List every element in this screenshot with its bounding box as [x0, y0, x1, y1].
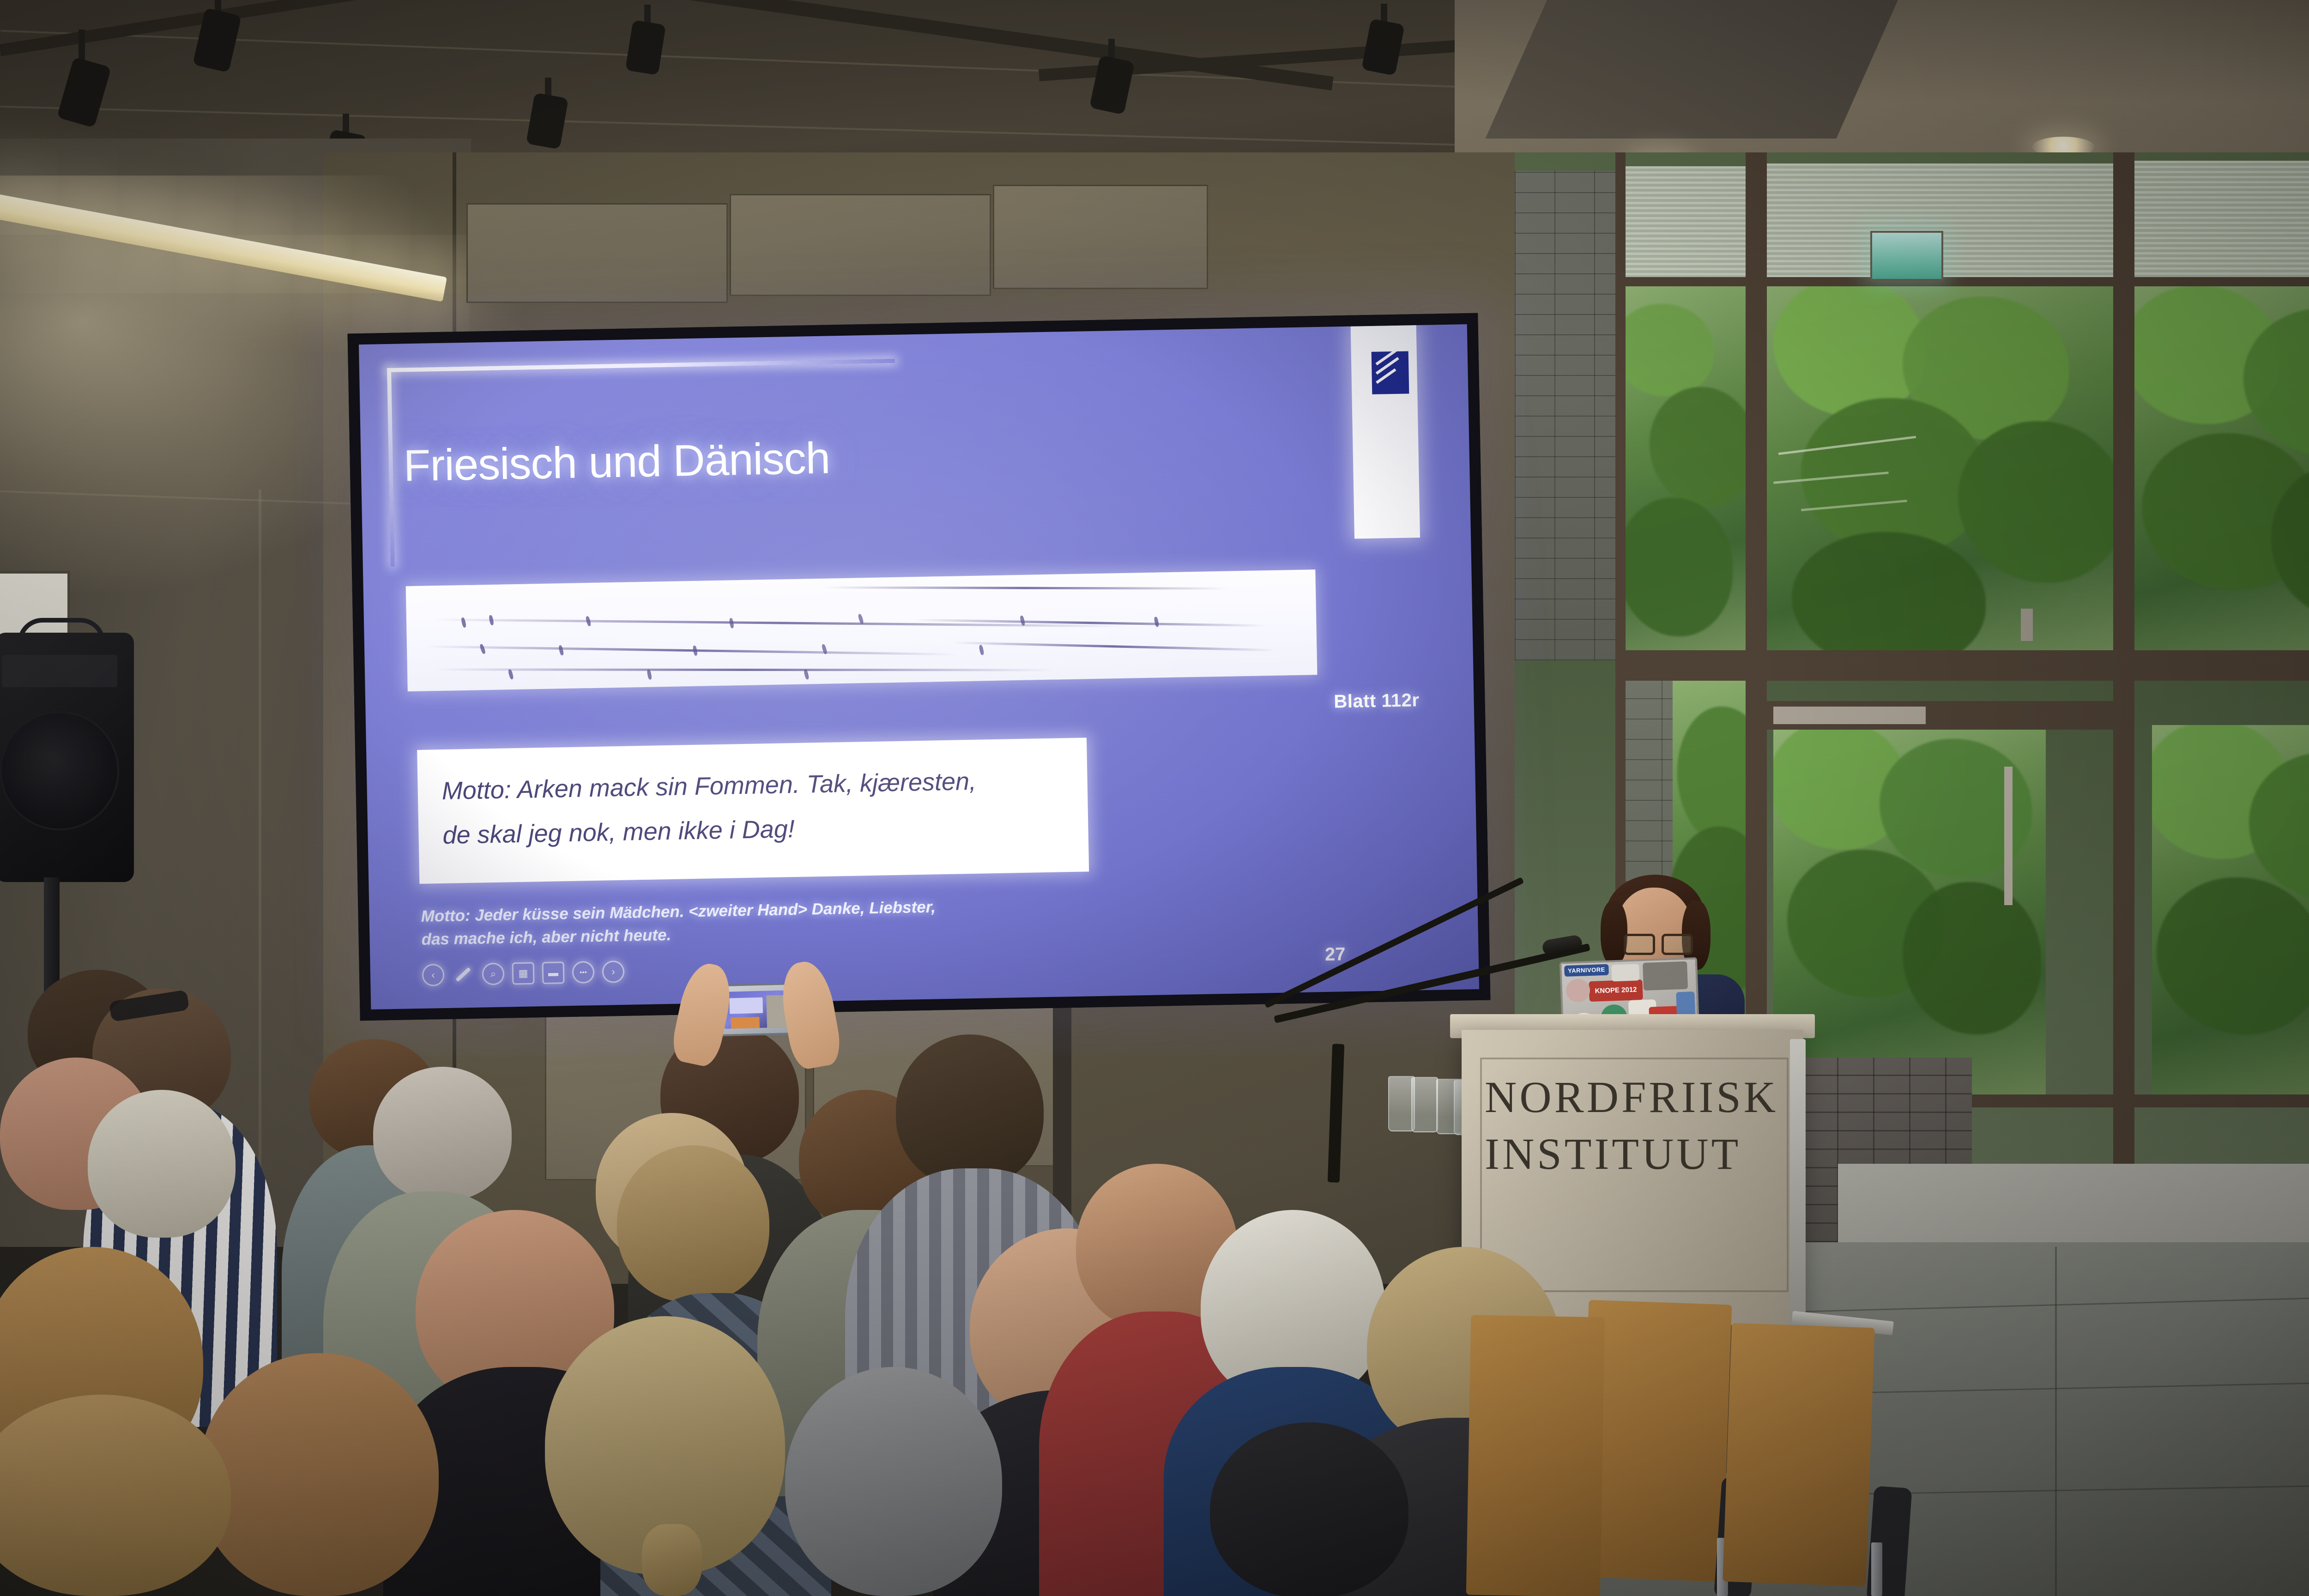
- chair-leg: [1871, 1542, 1882, 1596]
- frosted-transom: [1622, 166, 1747, 282]
- emergency-exit-sign: [1870, 231, 1943, 281]
- foliage: [1958, 421, 2115, 583]
- window-rail: [1615, 650, 2309, 681]
- title-rule-vertical: [387, 368, 395, 567]
- audience-head-white-hair: [88, 1090, 236, 1238]
- foliage: [1622, 498, 1733, 636]
- window-transom-rail: [1615, 277, 2309, 286]
- speaker-cone-icon: [0, 711, 119, 830]
- foliage: [1650, 387, 1747, 507]
- window-pane: [2133, 281, 2309, 650]
- slide-surface: Friesisch und Dänisch: [359, 324, 1479, 1010]
- audience-head: [199, 1353, 439, 1596]
- window-pane-lower: [2152, 725, 2309, 1099]
- hair-braid: [642, 1524, 702, 1596]
- audience-head-dark: [1210, 1422, 1408, 1596]
- audience-head-grey: [373, 1067, 512, 1201]
- door-closer-arm: [1773, 707, 1926, 724]
- foliage: [1903, 882, 2041, 1034]
- spotlight-arm: [79, 30, 85, 63]
- wall-panel: [730, 194, 991, 296]
- slide-title: Friesisch und Dänisch: [403, 433, 830, 491]
- projection-screen: Friesisch und Dänisch: [348, 313, 1491, 1021]
- foliage: [1792, 532, 1986, 652]
- wall-panel: [466, 203, 728, 303]
- phone-preview-slide: [729, 997, 763, 1014]
- chair[interactable]: [1466, 1315, 1605, 1596]
- audience-head: [896, 1034, 1044, 1187]
- motto-translation: Motto: Jeder küsse sein Mädchen. <zweite…: [421, 893, 1096, 951]
- smartphone-screen: [724, 990, 791, 1029]
- interior-brick-column: [1515, 171, 1616, 660]
- title-rule-horizontal: [387, 359, 895, 372]
- ceiling-right-beam: [1485, 0, 1898, 139]
- institute-logo-icon: [1372, 351, 1409, 394]
- window-pane: [1764, 283, 2115, 652]
- floor-tile-line: [2055, 1247, 2057, 1596]
- pa-loudspeaker: [0, 633, 134, 882]
- audience-head-grey: [785, 1367, 1002, 1596]
- speaker-tweeter: [2, 655, 117, 687]
- manuscript-caption: Blatt 112r: [1334, 690, 1420, 712]
- motto-box: Motto: Arken mack sin Fommen. Tak, kjære…: [417, 738, 1089, 884]
- window-pane: [1622, 285, 1747, 650]
- lecture-hall-photo: Friesisch und Dänisch: [0, 0, 2309, 1596]
- door-handle: [2004, 767, 2013, 905]
- chair[interactable]: [1723, 1323, 1874, 1586]
- manuscript-scan-image: [406, 569, 1318, 691]
- lectern-side-rail: [1790, 1039, 1806, 1335]
- foliage: [1773, 283, 1926, 417]
- phone-preview-content: [731, 1017, 760, 1029]
- sticker: [1676, 991, 1695, 1017]
- foliage: [1622, 304, 1714, 396]
- foliage: [2157, 877, 2309, 1034]
- wall-panel: [993, 185, 1208, 289]
- eyeglasses-icon: [1624, 934, 1688, 950]
- foliage: [1677, 707, 1747, 845]
- audience-head: [617, 1145, 769, 1302]
- frosted-transom: [2133, 161, 2309, 282]
- window-handle: [2021, 609, 2033, 641]
